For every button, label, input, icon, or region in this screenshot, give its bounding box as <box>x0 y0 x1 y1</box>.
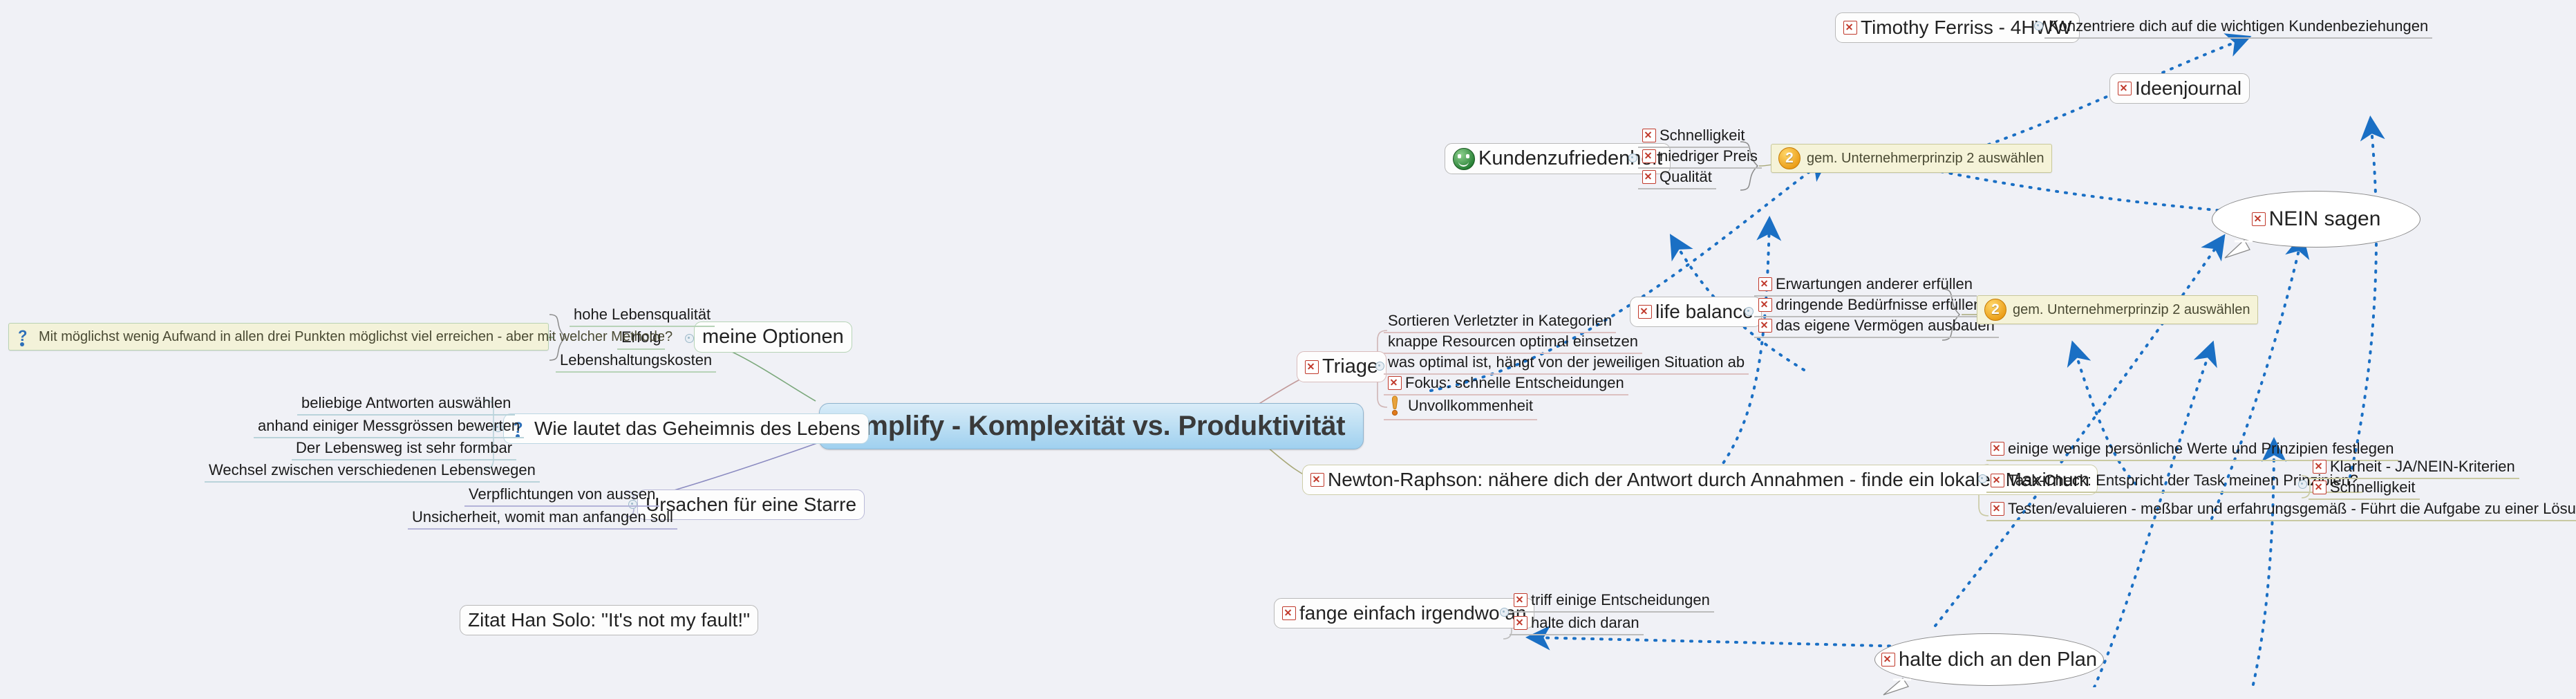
collapse-knob-ferriss[interactable] <box>2034 21 2043 30</box>
node-life-balance-label: life balance <box>1655 301 1754 323</box>
x-icon <box>1514 593 1527 607</box>
x-icon <box>1991 442 2004 456</box>
node-triage-label: Triage <box>1322 355 1378 378</box>
x-icon <box>1642 129 1656 142</box>
leaf-label: Testen/evaluieren - meßbar und erfahrung… <box>2008 500 2576 518</box>
note-unternehmerprinzip-lifebalance[interactable]: 2 gem. Unternehmerprinzip 2 auswählen <box>1977 295 2258 324</box>
leaf-label: Konzentriere dich auf die wichtigen Kund… <box>2049 17 2428 35</box>
leaf-label: Verpflichtungen von aussen <box>469 485 655 503</box>
leaf-label: niedriger Preis <box>1660 147 1758 165</box>
node-halte-dich-an-den-plan[interactable]: halte dich an den Plan <box>1874 633 2104 686</box>
note-label: gem. Unternehmerprinzip 2 auswählen <box>1807 151 2044 167</box>
svg-text:?: ? <box>18 327 27 344</box>
leaf-label: was optimal ist, hängt von der jeweilige… <box>1388 353 1745 371</box>
note-unternehmerprinzip-kunde[interactable]: 2 gem. Unternehmerprinzip 2 auswählen <box>1771 144 2052 173</box>
smiley-icon <box>1453 148 1475 170</box>
note-label: gem. Unternehmerprinzip 2 auswählen <box>2013 302 2250 318</box>
leaf-testen-evaluieren[interactable]: Testen/evaluieren - meßbar und erfahrung… <box>1986 498 2576 521</box>
leaf-messgroessen[interactable]: anhand einiger Messgrössen bewerten <box>254 416 524 438</box>
leaf-triff-entscheidungen[interactable]: triff einige Entscheidungen <box>1510 590 1714 613</box>
leaf-label: hohe Lebensqualität <box>574 306 711 324</box>
leaf-label: Wechsel zwischen verschiedenen Lebensweg… <box>209 461 536 479</box>
leaf-dringende-beduerfnisse[interactable]: dringende Bedürfnisse erfüllen <box>1754 295 1986 317</box>
leaf-label: Schnelligkeit <box>2330 478 2416 496</box>
leaf-label: Sortieren Verletzter in Kategorien <box>1388 312 1612 330</box>
collapse-knob-life-balance[interactable] <box>1745 307 1754 316</box>
speech-tail-icon <box>1882 675 1930 699</box>
node-fange-irgendwo-an-label: fange einfach irgendwo an <box>1299 602 1526 624</box>
leaf-sortieren-verletzter[interactable]: Sortieren Verletzter in Kategorien <box>1384 310 1616 333</box>
x-icon <box>1758 298 1772 312</box>
leaf-unvollkommenheit[interactable]: Unvollkommenheit <box>1384 393 1537 420</box>
node-geheimnis-des-lebens[interactable]: ? Wie lautet das Geheimnis des Lebens <box>503 413 869 444</box>
leaf-erwartungen-anderer[interactable]: Erwartungen anderer erfüllen <box>1754 274 1977 297</box>
leaf-label: beliebige Antworten auswählen <box>301 394 511 412</box>
leaf-lebenshaltungskosten[interactable]: Lebenshaltungskosten <box>556 350 716 373</box>
x-icon <box>2313 460 2326 474</box>
central-topic[interactable]: Simplify - Komplexität vs. Produktivität <box>819 403 1364 449</box>
leaf-label: Unvollkommenheit <box>1408 397 1533 415</box>
leaf-fokus-schnelle-entscheidungen[interactable]: Fokus: schnelle Entscheidungen <box>1384 373 1628 395</box>
x-icon <box>1305 360 1319 374</box>
leaf-label: Schnelligkeit <box>1660 127 1745 145</box>
x-icon <box>1881 653 1895 667</box>
mindmap-canvas: Simplify - Komplexität vs. Produktivität… <box>0 0 2576 687</box>
node-newton-raphson-label: Newton-Raphson: nähere dich der Antwort … <box>1328 469 2089 491</box>
node-life-balance[interactable]: life balance <box>1630 297 1762 327</box>
leaf-label: Fokus: schnelle Entscheidungen <box>1405 374 1624 392</box>
leaf-label: das eigene Vermögen ausbauen <box>1776 317 1995 335</box>
node-timothy-ferriss[interactable]: Timothy Ferriss - 4HWW <box>1835 12 2080 43</box>
x-icon <box>2313 481 2326 494</box>
leaf-verpflichtungen-aussen[interactable]: Verpflichtungen von aussen <box>464 484 659 507</box>
node-geheimnis-label: Wie lautet das Geheimnis des Lebens <box>534 418 861 440</box>
leaf-halte-dich-daran[interactable]: halte dich daran <box>1510 613 1644 635</box>
warning-icon <box>1388 395 1402 417</box>
question-icon: ? <box>16 326 34 347</box>
node-zitat-han-solo[interactable]: Zitat Han Solo: "It's not my fault!" <box>460 605 758 635</box>
collapse-knob-kundenzufriedenheit[interactable] <box>1628 153 1637 162</box>
leaf-label: dringende Bedürfnisse erfüllen <box>1776 296 1982 314</box>
x-icon <box>1282 606 1296 620</box>
leaf-qualitaet[interactable]: Qualität <box>1638 167 1716 189</box>
leaf-beliebige-antworten[interactable]: beliebige Antworten auswählen <box>297 393 515 416</box>
leaf-label: Lebenshaltungskosten <box>560 351 712 369</box>
leaf-klarheit-ja-nein[interactable]: Klarheit - JA/NEIN-Kriterien <box>2309 456 2519 479</box>
node-nein-sagen[interactable]: NEIN sagen <box>2212 191 2420 248</box>
collapse-knob-fange-an[interactable] <box>1500 608 1509 617</box>
leaf-label: einige wenige persönliche Werte und Prin… <box>2008 440 2394 458</box>
leaf-schnelligkeit-taskcheck[interactable]: Schnelligkeit <box>2309 477 2420 500</box>
x-icon <box>1638 305 1652 319</box>
node-meine-optionen-label: meine Optionen <box>702 326 844 348</box>
number-two-icon: 2 <box>1984 299 2006 321</box>
leaf-label: Qualität <box>1660 168 1712 186</box>
note-label: Mit möglichst wenig Aufwand in allen dre… <box>39 329 673 345</box>
collapse-knob-meine-optionen[interactable] <box>685 334 694 343</box>
leaf-schnelligkeit-kunde[interactable]: Schnelligkeit <box>1638 125 1749 148</box>
node-fange-irgendwo-an[interactable]: fange einfach irgendwo an <box>1274 598 1534 628</box>
x-icon <box>1758 277 1772 291</box>
x-icon <box>2252 212 2266 226</box>
leaf-label: halte dich daran <box>1531 614 1639 632</box>
leaf-unsicherheit-anfangen[interactable]: Unsicherheit, womit man anfangen soll <box>408 507 677 530</box>
leaf-label: Unsicherheit, womit man anfangen soll <box>412 508 673 526</box>
speech-tail-icon <box>2222 237 2271 262</box>
node-ideenjournal-label: Ideenjournal <box>2135 77 2241 100</box>
leaf-label: Erwartungen anderer erfüllen <box>1776 275 1973 293</box>
leaf-label: triff einige Entscheidungen <box>1531 591 1710 609</box>
x-icon <box>1310 473 1324 487</box>
node-meine-optionen[interactable]: meine Optionen <box>694 321 852 353</box>
leaf-lebensweg-formbar[interactable]: Der Lebensweg ist sehr formbar <box>292 438 516 460</box>
x-icon <box>1642 170 1656 184</box>
x-icon <box>2118 82 2132 95</box>
leaf-label: knappe Resourcen optimal einsetzen <box>1388 333 1638 351</box>
leaf-niedriger-preis[interactable]: niedriger Preis <box>1638 146 1762 169</box>
x-icon <box>1758 319 1772 333</box>
leaf-label: Klarheit - JA/NEIN-Kriterien <box>2330 458 2515 476</box>
note-methode-frage[interactable]: ? Mit möglichst wenig Aufwand in allen d… <box>8 323 549 351</box>
x-icon <box>1991 502 2004 516</box>
node-nein-sagen-label: NEIN sagen <box>2269 207 2381 231</box>
node-zitat-han-solo-label: Zitat Han Solo: "It's not my fault!" <box>468 609 750 631</box>
x-icon <box>1991 474 2004 487</box>
leaf-was-optimal-ist[interactable]: was optimal ist, hängt von der jeweilige… <box>1384 352 1749 375</box>
x-icon <box>1642 149 1656 163</box>
leaf-wechsel-lebenswege[interactable]: Wechsel zwischen verschiedenen Lebensweg… <box>205 460 540 483</box>
leaf-kundenbeziehungen[interactable]: Konzentriere dich auf die wichtigen Kund… <box>2044 16 2432 39</box>
collapse-knob-task-check[interactable] <box>2298 480 2307 489</box>
central-topic-label: Simplify - Komplexität vs. Produktivität <box>838 411 1345 442</box>
leaf-hohe-lebensqualitaet[interactable]: hohe Lebensqualität <box>570 304 715 327</box>
x-icon <box>1388 376 1402 390</box>
x-icon <box>1843 21 1857 35</box>
leaf-eigenes-vermoegen[interactable]: das eigene Vermögen ausbauen <box>1754 315 1999 338</box>
leaf-label: Der Lebensweg ist sehr formbar <box>296 439 512 457</box>
node-ideenjournal[interactable]: Ideenjournal <box>2109 73 2250 104</box>
leaf-knappe-resourcen[interactable]: knappe Resourcen optimal einsetzen <box>1384 331 1642 354</box>
number-two-icon: 2 <box>1778 147 1801 169</box>
node-halte-dich-an-den-plan-label: halte dich an den Plan <box>1899 649 2097 671</box>
x-icon <box>1514 616 1527 630</box>
node-triage[interactable]: Triage <box>1297 351 1386 382</box>
leaf-label: anhand einiger Messgrössen bewerten <box>258 417 520 435</box>
